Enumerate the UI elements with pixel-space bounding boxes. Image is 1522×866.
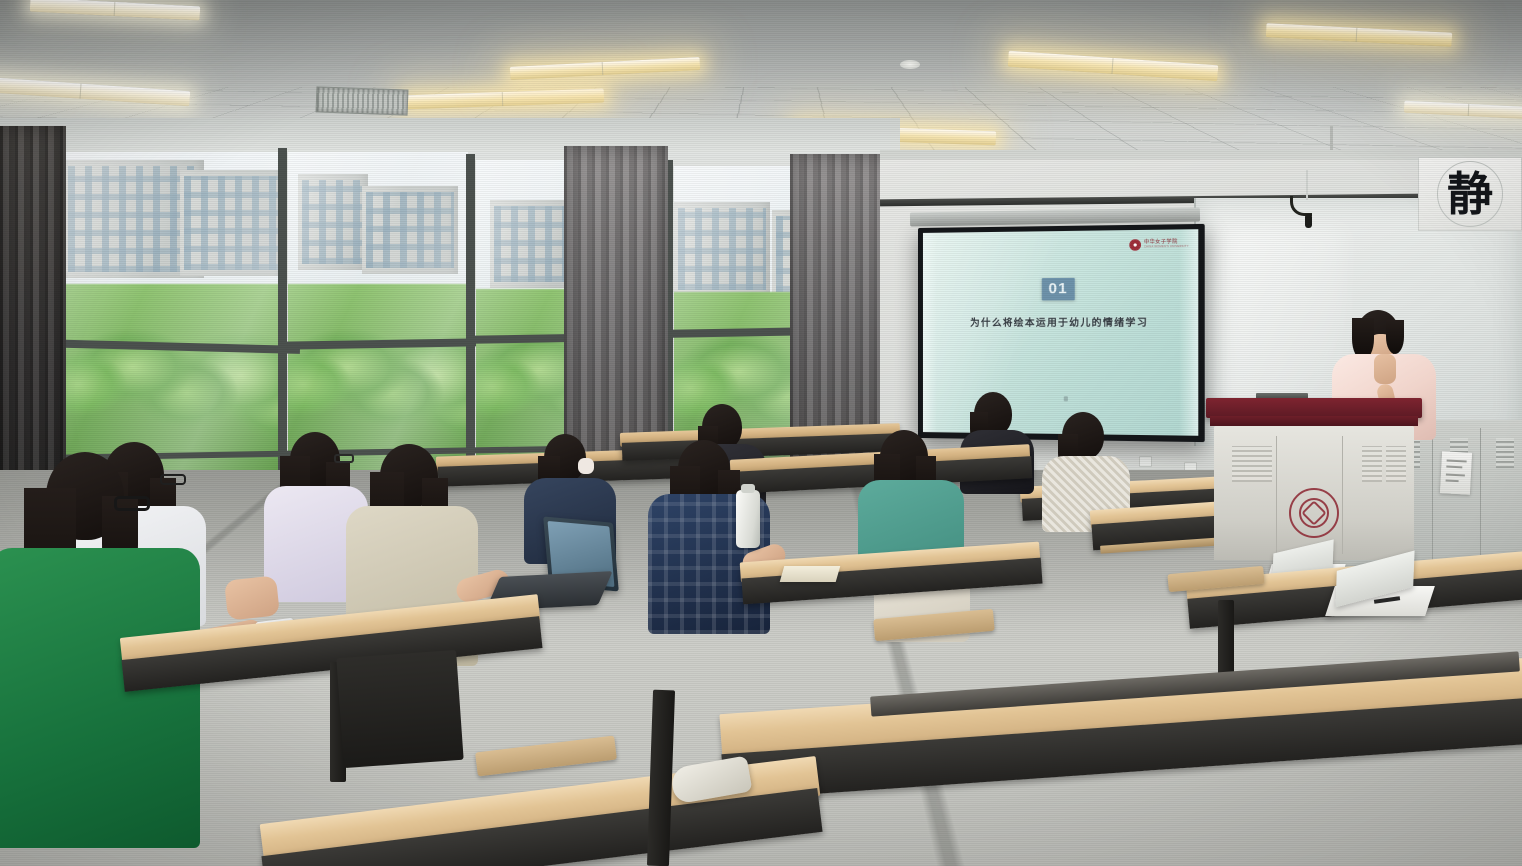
lectern — [1206, 398, 1422, 560]
slide-section-number: 01 — [1041, 278, 1075, 301]
student-torso — [0, 548, 200, 848]
slide-cursor-icon — [1064, 396, 1068, 401]
projection-screen: 中华女子学院 CHINA WOMEN'S UNIVERSITY 01 为什么将绘… — [923, 229, 1198, 436]
slide-title: 为什么将绘本运用于幼儿的情绪学习 — [970, 314, 1148, 329]
lectern-top — [1206, 398, 1422, 418]
lectern-vent-icon — [1232, 446, 1252, 482]
seat-back — [336, 650, 463, 768]
university-emblem-icon — [1289, 488, 1339, 538]
lectern-vent-icon — [1252, 446, 1272, 482]
lectern-vent-icon — [1362, 446, 1382, 482]
presenter-neck — [1374, 354, 1396, 384]
air-vent — [316, 86, 409, 115]
student-hand — [224, 575, 280, 620]
cabinet-vent-icon — [1496, 438, 1514, 468]
quiet-sign: 静 — [1418, 157, 1522, 231]
wall-socket — [1139, 456, 1152, 467]
open-notebook — [1330, 566, 1430, 618]
lectern-body — [1214, 426, 1414, 560]
university-seal-icon — [1129, 239, 1141, 250]
sign-ring — [1437, 161, 1503, 227]
window-header-beam — [0, 118, 900, 152]
slide-logo: 中华女子学院 CHINA WOMEN'S UNIVERSITY — [1129, 239, 1188, 251]
window-pane — [60, 152, 280, 482]
lectern-vent-icon — [1386, 446, 1406, 482]
book-on-desk — [780, 566, 841, 582]
ceiling-sensor-icon — [900, 60, 920, 69]
window-mullion — [466, 154, 475, 488]
paper-notice — [1440, 451, 1472, 495]
hanging-microphone-icon — [1305, 214, 1312, 228]
face-mask-icon — [578, 458, 594, 474]
projection-screen-frame: 中华女子学院 CHINA WOMEN'S UNIVERSITY 01 为什么将绘… — [918, 224, 1205, 442]
lectern-lip — [1210, 416, 1418, 426]
eyeglasses-icon — [114, 496, 150, 511]
window-mullion — [278, 148, 287, 488]
slide-logo-sub: CHINA WOMEN'S UNIVERSITY — [1144, 246, 1189, 249]
eyeglasses-icon — [334, 454, 354, 463]
presenter-hair — [1386, 320, 1404, 354]
water-bottle — [736, 490, 760, 548]
eyeglasses-icon — [160, 474, 186, 485]
classroom-scene: EPSON — [0, 0, 1522, 866]
